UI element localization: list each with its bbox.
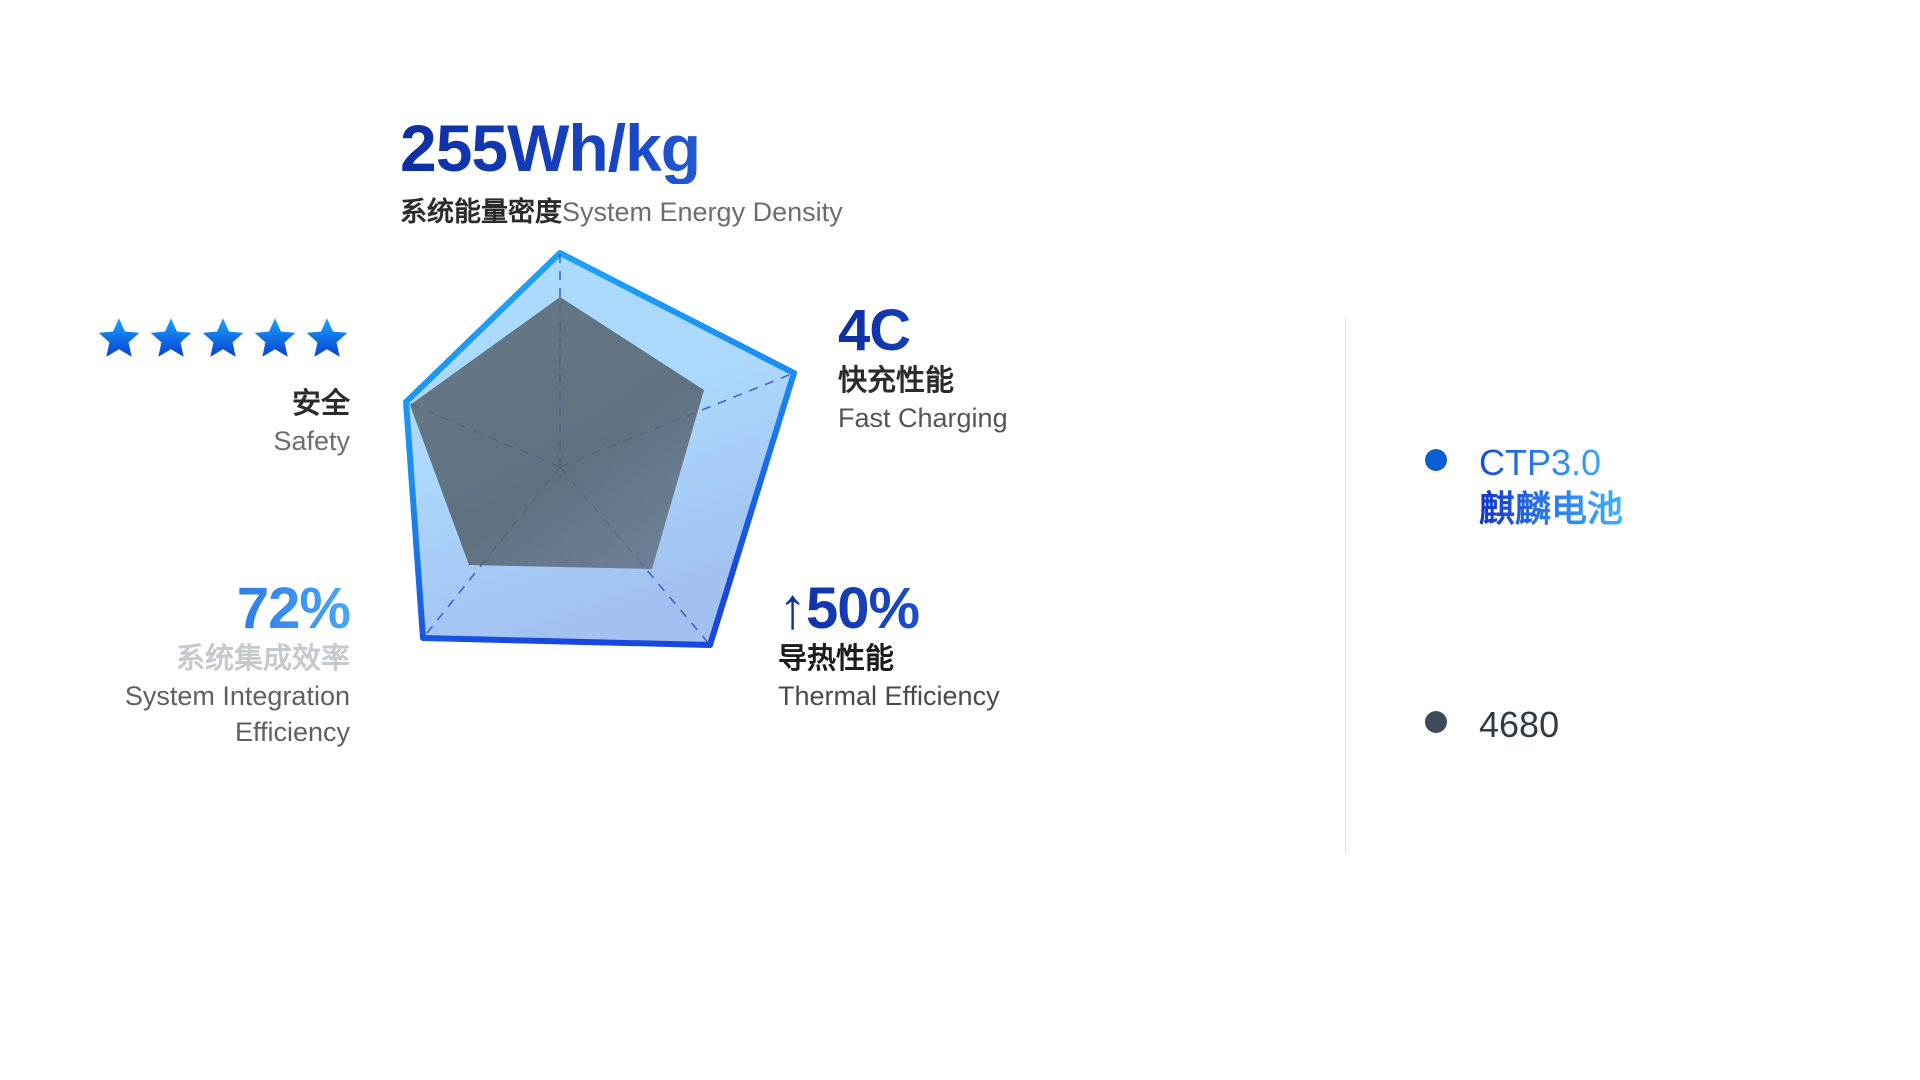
- thermal-efficiency-label-en: Thermal Efficiency: [778, 678, 1118, 714]
- star-icon: [304, 315, 350, 361]
- slide-canvas: 255Wh/kg 系统能量密度System Energy Density: [0, 0, 1920, 1080]
- star-icon: [200, 315, 246, 361]
- system-integration-label-cn: 系统集成效率: [30, 640, 350, 678]
- system-integration-value: 72%: [30, 578, 350, 640]
- legend-label-ctp30-line2: 麒麟电池: [1479, 486, 1623, 532]
- axis-block-fast-charging: 4C 快充性能 Fast Charging: [838, 300, 1158, 436]
- vertical-divider: [1345, 318, 1346, 854]
- axis-block-safety: 安全 Safety: [30, 315, 350, 459]
- legend-dot-ctp30: [1425, 449, 1447, 471]
- legend-label-ctp30-line1: CTP3.0: [1479, 440, 1623, 486]
- safety-label-en: Safety: [30, 423, 350, 459]
- safety-label-cn: 安全: [30, 385, 350, 423]
- energy-density-label-cn: 系统能量密度: [400, 197, 562, 227]
- axis-block-thermal-efficiency: ↑50% 导热性能 Thermal Efficiency: [778, 578, 1118, 714]
- radar-chart: [370, 225, 840, 675]
- energy-density-label-en: System Energy Density: [562, 197, 843, 227]
- fast-charging-label-en: Fast Charging: [838, 400, 1158, 436]
- star-icon: [96, 315, 142, 361]
- thermal-efficiency-value: ↑50%: [778, 578, 1118, 640]
- legend-label-4680: 4680: [1479, 702, 1559, 748]
- page-title: 255Wh/kg 系统能量密度System Energy Density: [400, 112, 1040, 228]
- system-integration-label-en-line1: System Integration: [30, 678, 350, 714]
- chart-legend: CTP3.0 麒麟电池 4680: [1425, 440, 1845, 748]
- fast-charging-label-cn: 快充性能: [838, 362, 1158, 400]
- system-integration-label-en-line2: Efficiency: [30, 714, 350, 750]
- thermal-efficiency-label-cn: 导热性能: [778, 640, 1118, 678]
- legend-dot-4680: [1425, 711, 1447, 733]
- axis-block-system-integration: 72% 系统集成效率 System Integration Efficiency: [30, 578, 350, 750]
- legend-item-4680[interactable]: 4680: [1425, 702, 1845, 748]
- legend-item-ctp30[interactable]: CTP3.0 麒麟电池: [1425, 440, 1845, 532]
- star-icon: [148, 315, 194, 361]
- energy-density-label: 系统能量密度System Energy Density: [400, 196, 1040, 228]
- energy-density-value: 255Wh/kg: [400, 112, 1040, 184]
- safety-star-rating: [30, 315, 350, 361]
- fast-charging-value: 4C: [838, 300, 1158, 362]
- star-icon: [252, 315, 298, 361]
